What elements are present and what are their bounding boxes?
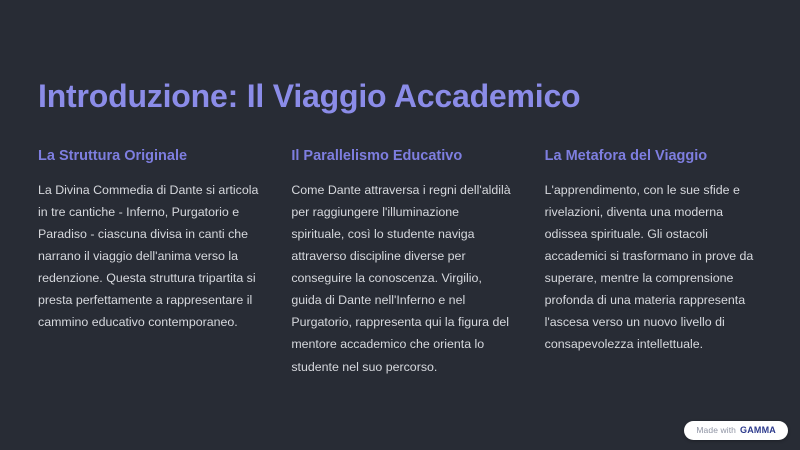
columns-container: La Struttura Originale La Divina Commedi… [38,147,768,378]
gamma-logo: GAMMA [740,426,776,435]
made-with-gamma-badge[interactable]: Made with GAMMA [684,421,788,440]
column-il-parallelismo-educativo: Il Parallelismo Educativo Come Dante att… [291,147,514,378]
column-heading: La Metafora del Viaggio [545,147,768,165]
badge-made-with-label: Made with [696,426,736,435]
column-la-struttura-originale: La Struttura Originale La Divina Commedi… [38,147,261,334]
page-title: Introduzione: Il Viaggio Accademico [38,78,766,115]
column-la-metafora-del-viaggio: La Metafora del Viaggio L'apprendimento,… [545,147,768,356]
column-heading: Il Parallelismo Educativo [291,147,514,165]
column-heading: La Struttura Originale [38,147,261,165]
column-body: Come Dante attraversa i regni dell'aldil… [291,179,514,378]
column-body: L'apprendimento, con le sue sfide e rive… [545,179,768,356]
slide: Introduzione: Il Viaggio Accademico La S… [0,0,800,450]
column-body: La Divina Commedia di Dante si articola … [38,179,261,334]
